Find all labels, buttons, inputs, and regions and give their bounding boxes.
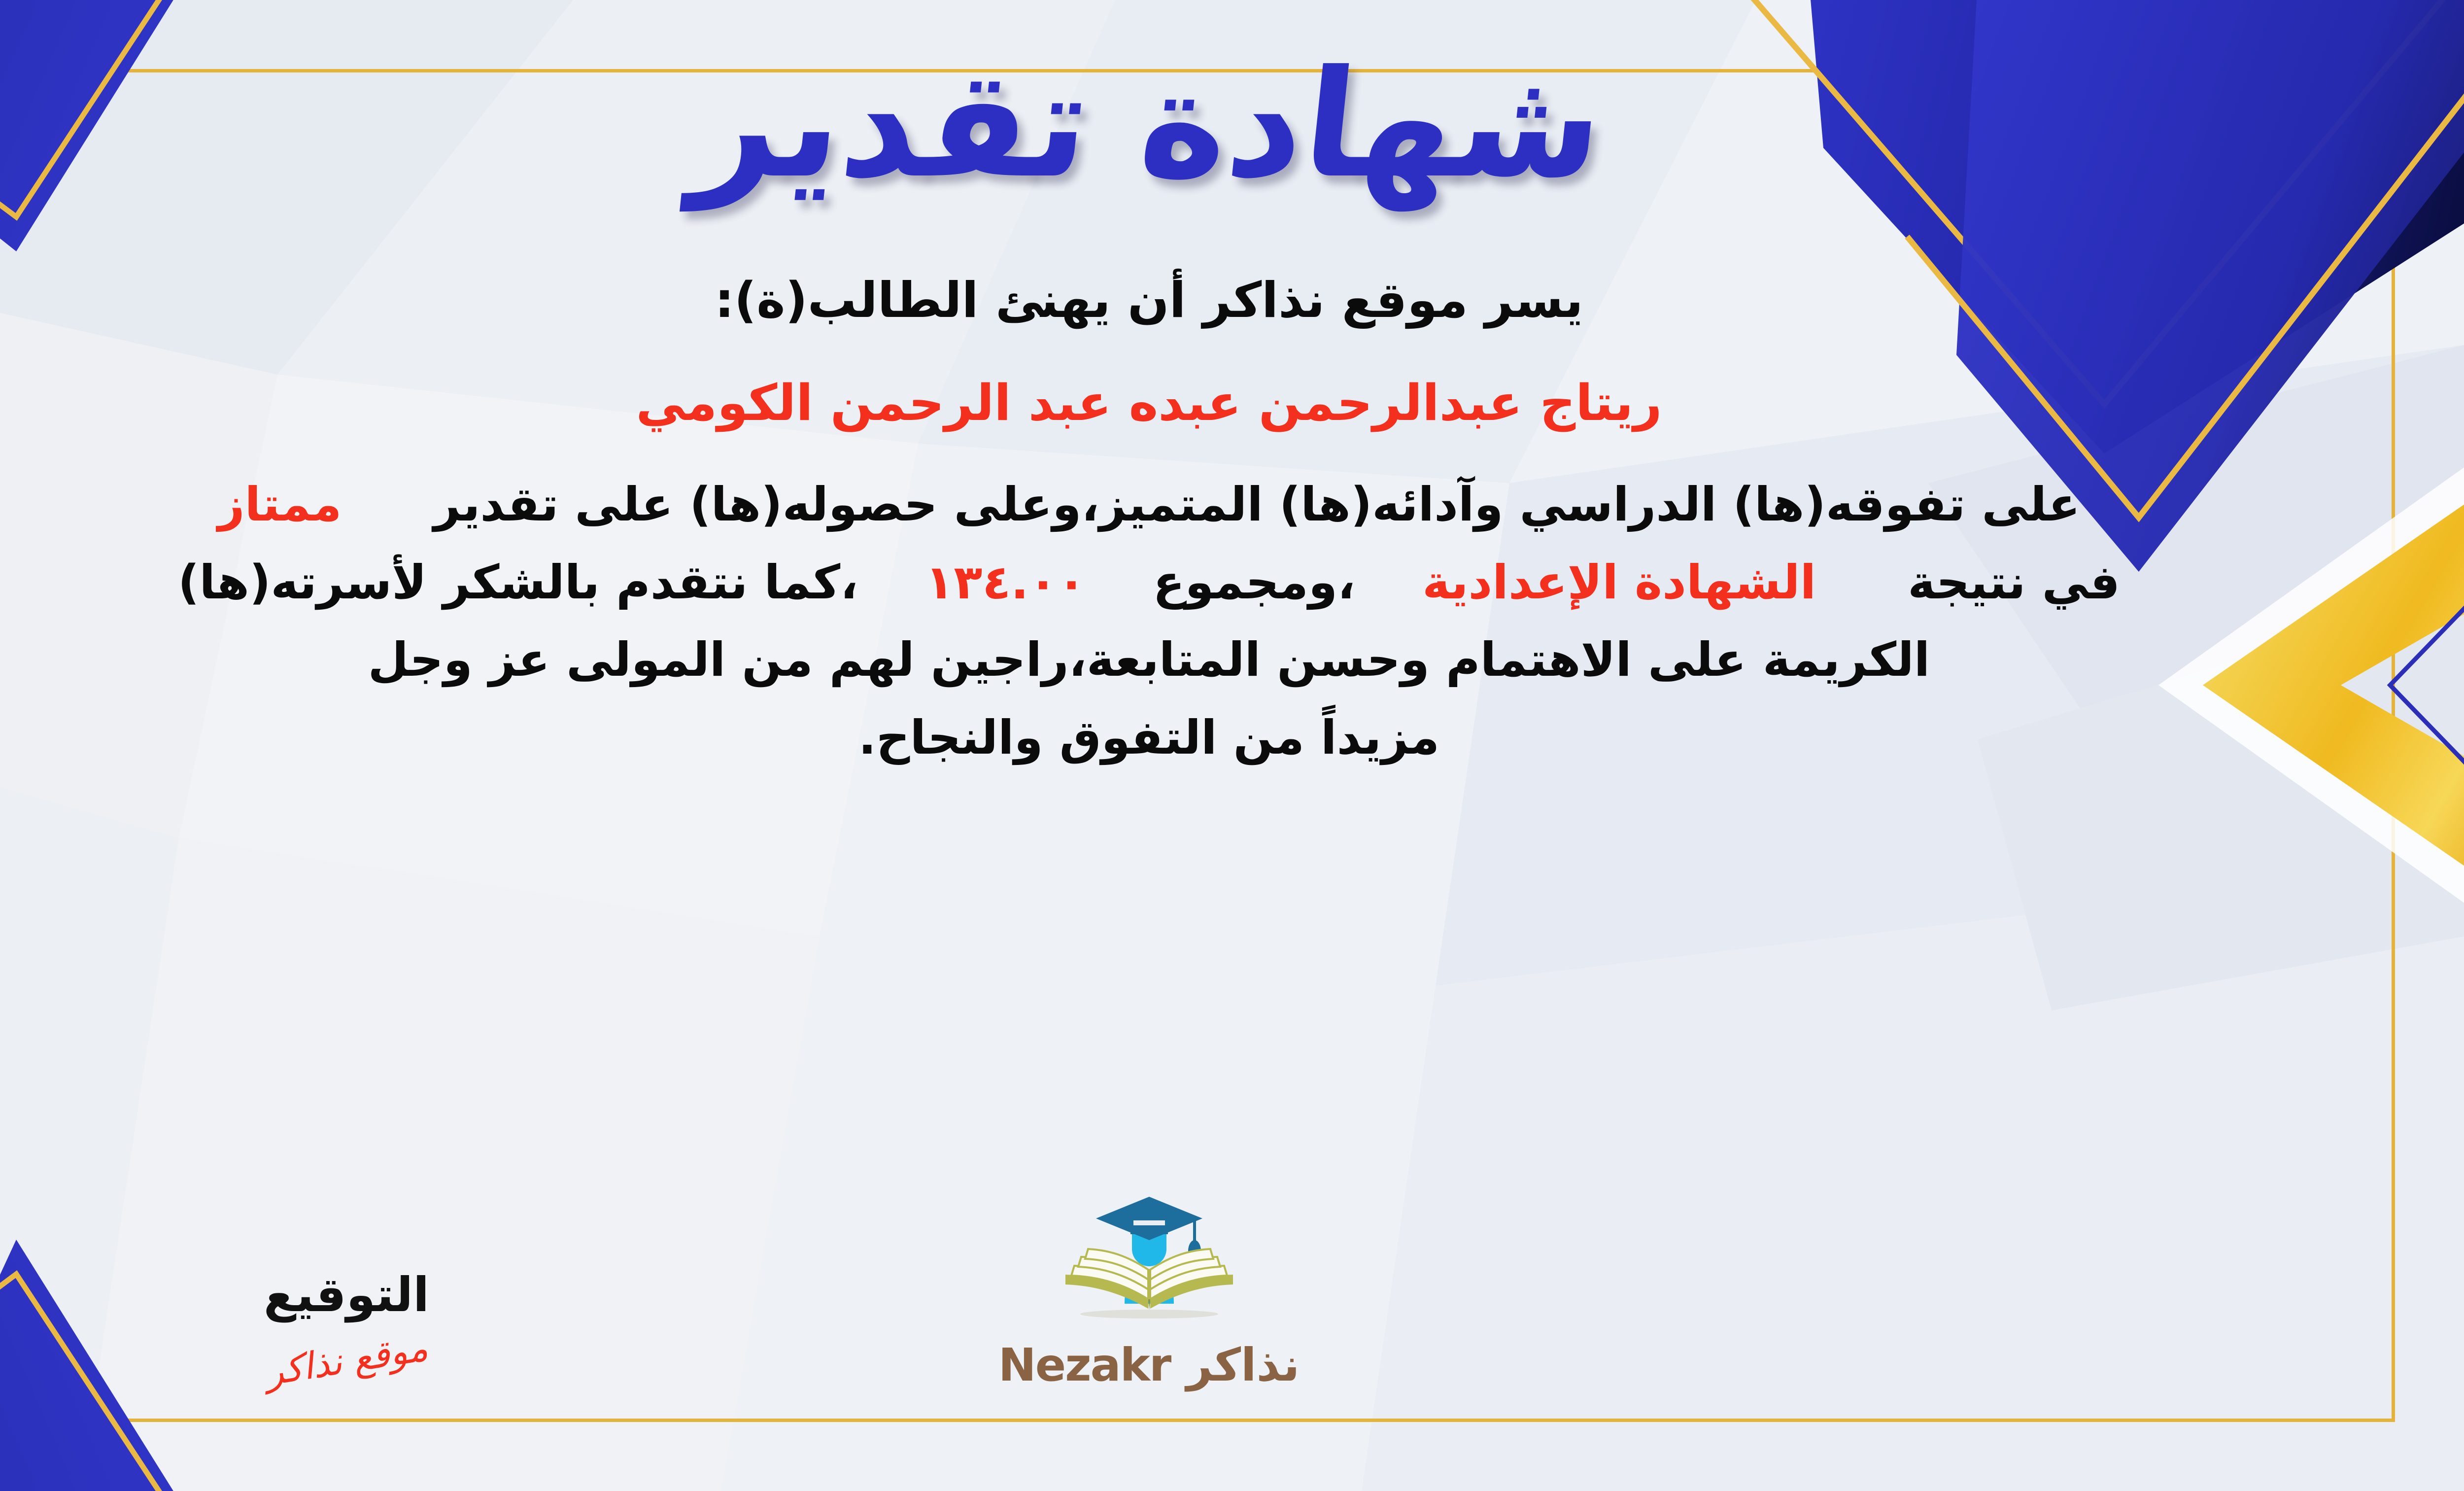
certificate-canvas: شهادة تقدير يسر موقع نذاكر أن يهنئ الطال… <box>0 0 2464 1491</box>
grade-value: ممتاز <box>218 478 342 532</box>
exam-name: الشهادة الإعدادية <box>1422 555 1816 610</box>
certificate-body: يسر موقع نذاكر أن يهنئ الطالب(ة): ريتاج … <box>90 261 2209 777</box>
total-value: ١٣٤.٠٠ <box>925 555 1086 610</box>
brand-logo: نذاكر Nezakr <box>972 1188 1327 1391</box>
closing-line: مزيداً من التفوق والنجاح. <box>90 699 2209 777</box>
praise-line: على تفوقه(ها) الدراسي وآدائه(ها) المتميز… <box>90 466 2209 544</box>
intro-line: يسر موقع نذاكر أن يهنئ الطالب(ة): <box>90 261 2209 340</box>
signature-block: التوقيع موقع نذاكر <box>208 1267 484 1382</box>
result-line: في نتيجة الشهادة الإعدادية ،ومجموع ١٣٤.٠… <box>90 544 2209 622</box>
thanks-text: ،كما نتقدم بالشكر لأسرته(ها) <box>178 555 858 610</box>
page-title: شهادة تقدير <box>687 47 1611 202</box>
result-prefix: في نتيجة <box>1908 555 2120 610</box>
total-label: ،ومجموع <box>1153 555 1356 610</box>
praise-text: على تفوقه(ها) الدراسي وآدائه(ها) المتميز… <box>434 478 2081 532</box>
signature-label: التوقيع <box>208 1267 484 1322</box>
brand-wordmark: نذاكر Nezakr <box>972 1339 1327 1391</box>
family-line: الكريمة على الاهتمام وحسن المتابعة،راجين… <box>90 622 2209 699</box>
student-name: ريتاج عبدالرحمن عبده عبد الرحمن الكومي <box>90 363 2209 444</box>
graduate-over-open-book-icon <box>1046 1188 1253 1336</box>
